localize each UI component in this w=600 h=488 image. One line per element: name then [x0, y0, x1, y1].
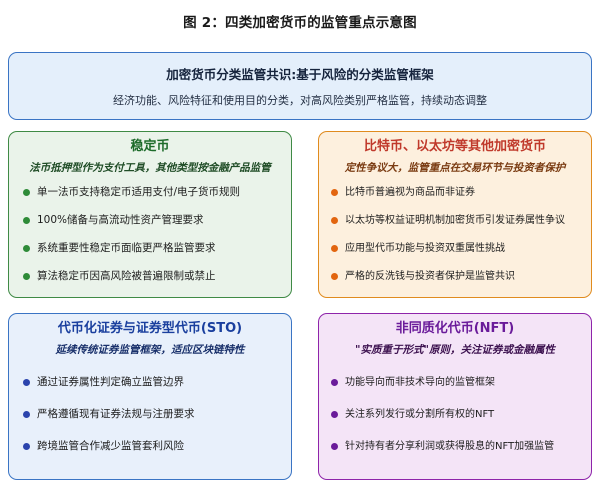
bullet-dot-icon — [23, 217, 30, 224]
consensus-banner-title: 加密货币分类监管共识:基于风险的分类监管框架 — [166, 64, 434, 83]
list-item-label: 比特币普遍视为商品而非证券 — [345, 186, 475, 199]
list-item-label: 100%储备与高流动性资产管理要求 — [37, 214, 204, 227]
panel-sto-subtitle: 延续传统证券监管框架，适应区块链特性 — [9, 345, 291, 356]
bullet-dot-icon — [331, 217, 338, 224]
bullet-dot-icon — [23, 411, 30, 418]
bullet-dot-icon — [331, 273, 338, 280]
list-item: 比特币普遍视为商品而非证券 — [331, 186, 581, 199]
list-item-label: 通过证券属性判定确立监管边界 — [37, 376, 184, 389]
list-item: 单一法币支持稳定币适用支付/电子货币规则 — [23, 186, 281, 199]
list-item-label: 功能导向而非技术导向的监管框架 — [345, 376, 495, 389]
consensus-banner-subtitle: 经济功能、风险特征和使用目的分类，对高风险类别严格监管，持续动态调整 — [113, 92, 487, 108]
panel-stablecoin-title: 稳定币 — [9, 140, 291, 153]
bullet-dot-icon — [23, 273, 30, 280]
bullet-dot-icon — [331, 379, 338, 386]
list-item: 100%储备与高流动性资产管理要求 — [23, 214, 281, 227]
panel-stablecoin-subtitle: 法币抵押型作为支付工具，其他类型按金融产品监管 — [9, 163, 291, 174]
list-item-label: 单一法币支持稳定币适用支付/电子货币规则 — [37, 186, 240, 199]
list-item: 严格的反洗钱与投资者保护是监管共识 — [331, 270, 581, 283]
list-item: 针对持有者分享利润或获得股息的NFT加强监管 — [331, 440, 581, 453]
list-item: 系统重要性稳定币面临更严格监管要求 — [23, 242, 281, 255]
panel-nft: 非同质化代币(NFT) "实质重于形式"原则，关注证券或金融属性 功能导向而非技… — [318, 313, 592, 480]
list-item-label: 以太坊等权益证明机制加密货币引发证券属性争议 — [345, 214, 565, 227]
panel-other-crypto: 比特币、以太坊等其他加密货币 定性争议大，监管重点在交易环节与投资者保护 比特币… — [318, 131, 592, 298]
panel-stablecoin-bullet-list: 单一法币支持稳定币适用支付/电子货币规则 100%储备与高流动性资产管理要求 系… — [23, 186, 281, 298]
list-item: 关注系列发行或分割所有权的NFT — [331, 408, 581, 421]
bullet-dot-icon — [23, 189, 30, 196]
panel-nft-subtitle: "实质重于形式"原则，关注证券或金融属性 — [319, 345, 591, 356]
panel-nft-bullet-list: 功能导向而非技术导向的监管框架 关注系列发行或分割所有权的NFT 针对持有者分享… — [331, 376, 581, 472]
panel-stablecoin: 稳定币 法币抵押型作为支付工具，其他类型按金融产品监管 单一法币支持稳定币适用支… — [8, 131, 292, 298]
list-item: 应用型代币功能与投资双重属性挑战 — [331, 242, 581, 255]
panel-other-crypto-title: 比特币、以太坊等其他加密货币 — [319, 140, 591, 153]
list-item-label: 跨境监管合作减少监管套利风险 — [37, 440, 184, 453]
bullet-dot-icon — [331, 245, 338, 252]
list-item-label: 严格的反洗钱与投资者保护是监管共识 — [345, 270, 515, 283]
list-item-label: 应用型代币功能与投资双重属性挑战 — [345, 242, 505, 255]
panel-other-crypto-subtitle: 定性争议大，监管重点在交易环节与投资者保护 — [319, 163, 591, 174]
panel-sto-title: 代币化证券与证券型代币(STO) — [9, 322, 291, 335]
figure-title: 图 2：四类加密货币的监管重点示意图 — [0, 11, 600, 31]
list-item-label: 严格遵循现有证券法规与注册要求 — [37, 408, 195, 421]
list-item-label: 系统重要性稳定币面临更严格监管要求 — [37, 242, 216, 255]
consensus-banner: 加密货币分类监管共识:基于风险的分类监管框架 经济功能、风险特征和使用目的分类，… — [8, 52, 592, 120]
list-item: 严格遵循现有证券法规与注册要求 — [23, 408, 281, 421]
bullet-dot-icon — [331, 411, 338, 418]
list-item: 通过证券属性判定确立监管边界 — [23, 376, 281, 389]
panel-other-crypto-bullet-list: 比特币普遍视为商品而非证券 以太坊等权益证明机制加密货币引发证券属性争议 应用型… — [331, 186, 581, 298]
bullet-dot-icon — [23, 245, 30, 252]
panel-nft-title: 非同质化代币(NFT) — [319, 322, 591, 335]
bullet-dot-icon — [23, 443, 30, 450]
bullet-dot-icon — [331, 443, 338, 450]
list-item: 算法稳定币因高风险被普遍限制或禁止 — [23, 270, 281, 283]
list-item-label: 算法稳定币因高风险被普遍限制或禁止 — [37, 270, 216, 283]
bullet-dot-icon — [331, 189, 338, 196]
list-item: 以太坊等权益证明机制加密货币引发证券属性争议 — [331, 214, 581, 227]
list-item: 跨境监管合作减少监管套利风险 — [23, 440, 281, 453]
list-item-label: 关注系列发行或分割所有权的NFT — [345, 408, 494, 421]
list-item-label: 针对持有者分享利润或获得股息的NFT加强监管 — [345, 440, 554, 453]
bullet-dot-icon — [23, 379, 30, 386]
panel-sto-bullet-list: 通过证券属性判定确立监管边界 严格遵循现有证券法规与注册要求 跨境监管合作减少监… — [23, 376, 281, 472]
list-item: 功能导向而非技术导向的监管框架 — [331, 376, 581, 389]
panel-sto: 代币化证券与证券型代币(STO) 延续传统证券监管框架，适应区块链特性 通过证券… — [8, 313, 292, 480]
